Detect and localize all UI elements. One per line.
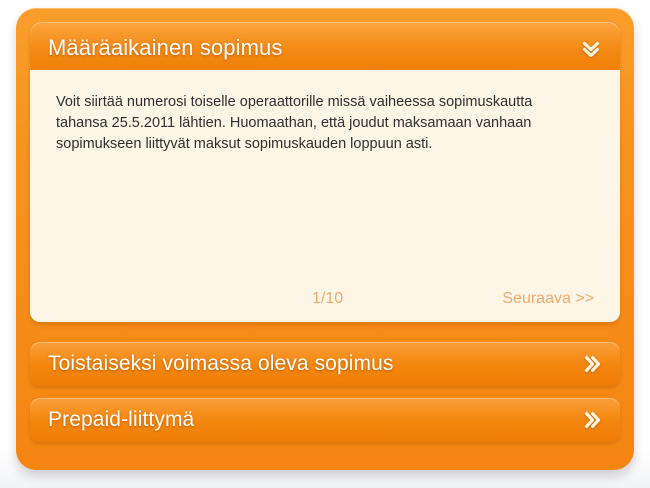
pager-indicator: 1/10 bbox=[312, 290, 343, 308]
accordion-panel-maaraaikainen-sopimus: Voit siirtää numerosi toiselle operaatto… bbox=[30, 70, 620, 322]
accordion-title: Määräaikainen sopimus bbox=[48, 35, 282, 61]
accordion-section-toistaiseksi-voimassa-oleva-sopimus: Toistaiseksi voimassa oleva sopimus bbox=[30, 342, 620, 386]
accordion-header-maaraaikainen-sopimus[interactable]: Määräaikainen sopimus bbox=[30, 22, 620, 74]
accordion-title: Toistaiseksi voimassa oleva sopimus bbox=[48, 352, 393, 376]
accordion-title: Prepaid-liittymä bbox=[48, 408, 194, 432]
next-page-link[interactable]: Seuraava >> bbox=[502, 290, 594, 308]
accordion-section-prepaid-liittyma: Prepaid-liittymä bbox=[30, 398, 620, 442]
accordion-header-prepaid-liittyma[interactable]: Prepaid-liittymä bbox=[30, 398, 620, 442]
panel-footer: 1/10 Seuraava >> bbox=[56, 290, 594, 308]
chevron-double-right-icon[interactable] bbox=[578, 407, 604, 433]
accordion-section-maaraaikainen-sopimus: Määräaikainen sopimus Voit siirtää numer… bbox=[30, 22, 620, 322]
accordion-header-toistaiseksi-voimassa-oleva-sopimus[interactable]: Toistaiseksi voimassa oleva sopimus bbox=[30, 342, 620, 386]
panel-body-text: Voit siirtää numerosi toiselle operaatto… bbox=[56, 92, 584, 155]
page-canvas: Määräaikainen sopimus Voit siirtää numer… bbox=[0, 0, 650, 488]
chevron-double-down-icon[interactable] bbox=[578, 35, 604, 61]
chevron-double-right-icon[interactable] bbox=[578, 351, 604, 377]
accordion-container: Määräaikainen sopimus Voit siirtää numer… bbox=[16, 8, 634, 470]
